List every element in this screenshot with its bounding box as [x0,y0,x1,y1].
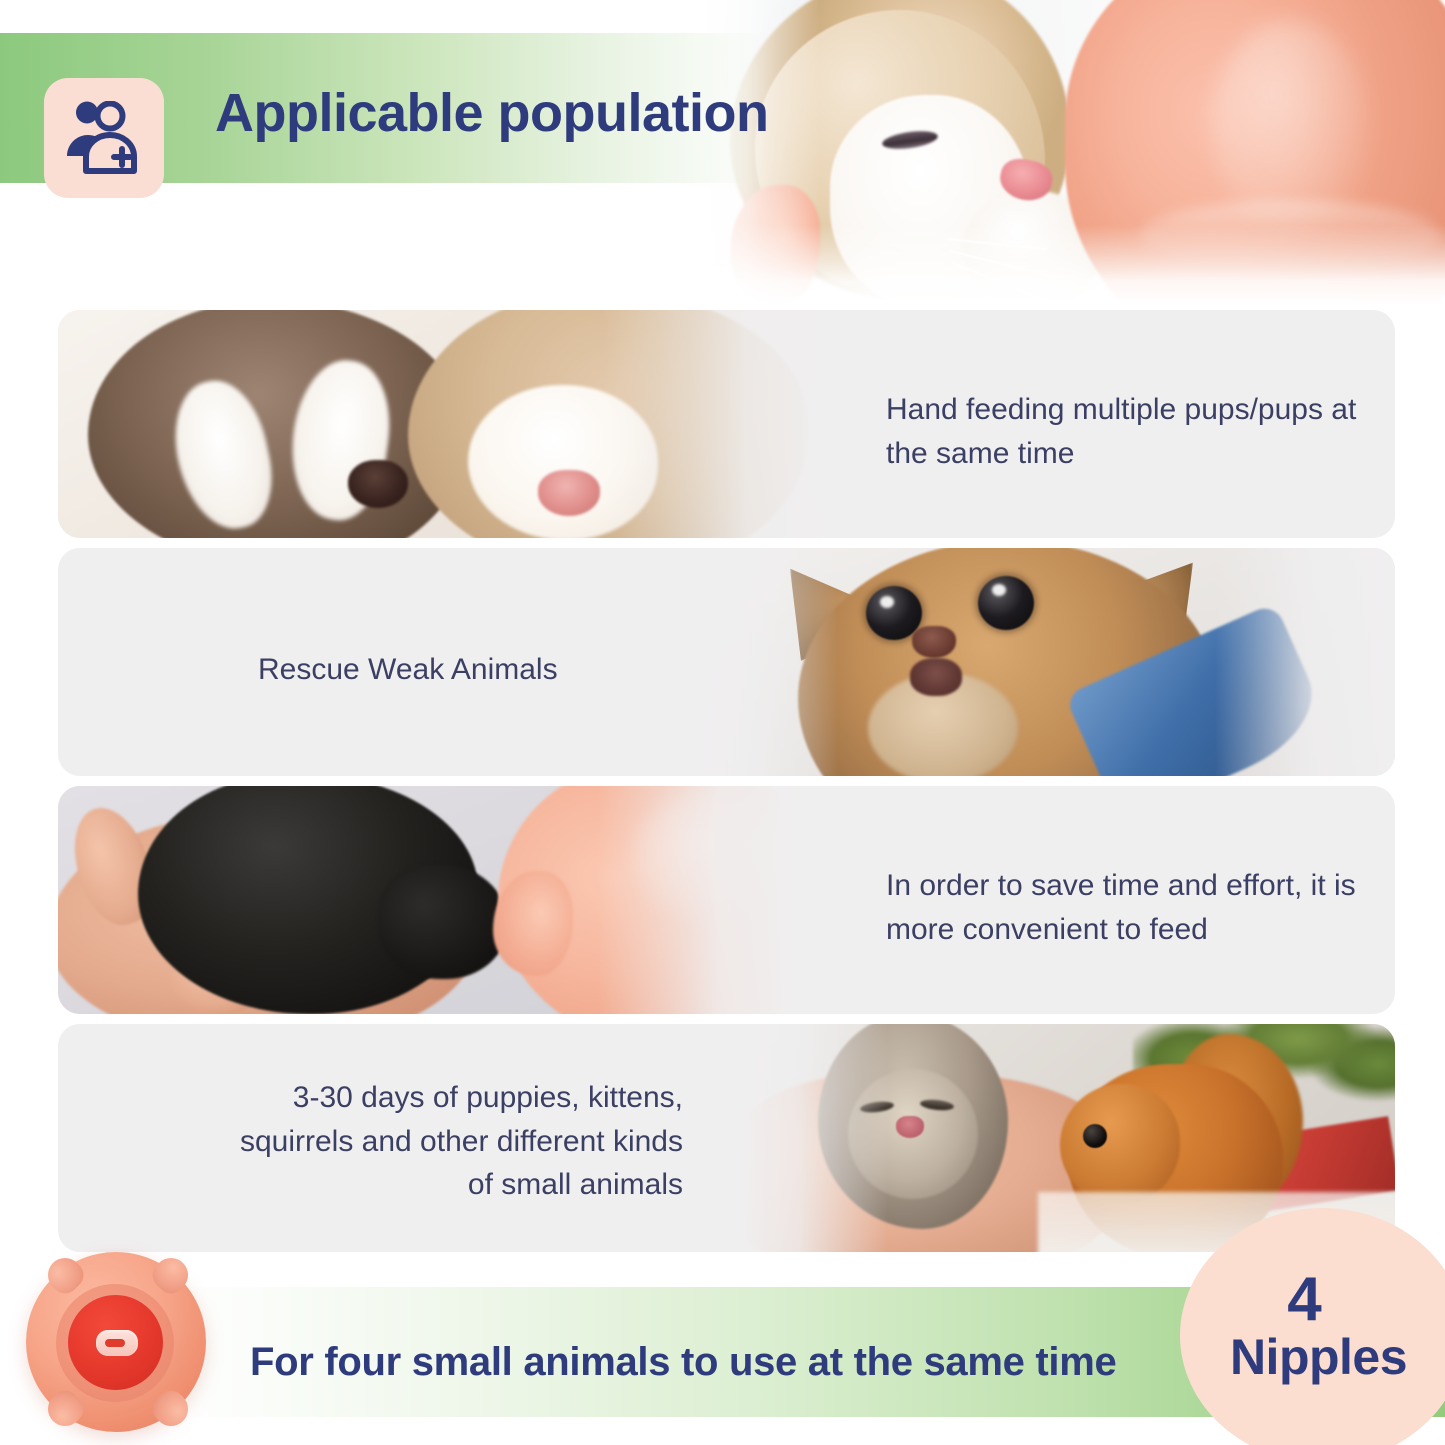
hero-bottom-fade [700,225,1445,305]
c3-puppy-snout [378,864,508,979]
c2-eye-highlight [880,596,894,608]
cap-valve [96,1330,138,1356]
c2-right-fade [1215,548,1395,776]
cap-nipple-2 [147,1251,195,1299]
c4-kitten-nose [896,1116,924,1138]
people-add-icon [65,101,143,175]
c2-kitten-nose [912,626,956,658]
card-2-text: Rescue Weak Animals [258,648,778,692]
card-1-text: Hand feeding multiple pups/pups at the s… [886,388,1386,475]
c1-puppy-tan-nose [538,470,600,516]
card-3-photo [58,786,798,1014]
card-age-range-animals: 3-30 days of puppies, kittens, squirrels… [58,1024,1395,1252]
cap-nipple-1 [41,1251,89,1299]
c1-right-fade [603,310,833,538]
card-save-time-effort: In order to save time and effort, it is … [58,786,1395,1014]
c2-kitten-eye-right [978,576,1034,630]
c4-squirrel-eye [1083,1124,1107,1148]
footer-caption: For four small animals to use at the sam… [250,1340,1116,1385]
hero-photo-kitten-bottle [700,0,1445,305]
card-1-photo [58,310,833,538]
nipples-count: 4 [1287,1271,1321,1330]
cap-nipple-4 [147,1385,195,1433]
hero-bottle-highlight [1210,20,1370,230]
header-icon-container [44,78,164,198]
infographic-page: Applicable population Hand feeding multi… [0,0,1445,1445]
card-2-photo [678,548,1395,776]
card-rescue-weak-animals: Rescue Weak Animals [58,548,1395,776]
c3-right-fade [598,786,798,1014]
card-hand-feeding: Hand feeding multiple pups/pups at the s… [58,310,1395,538]
c2-eye-highlight [992,584,1006,596]
card-3-text: In order to save time and effort, it is … [886,864,1386,951]
c4-squirrel-head [1060,1084,1180,1204]
page-title: Applicable population [215,82,769,144]
card-4-text: 3-30 days of puppies, kittens, squirrels… [238,1076,683,1207]
product-bottle-cap-photo [8,1240,223,1445]
c2-kitten-mouth [910,658,962,696]
c4-left-fade [738,1024,888,1252]
nipples-label: Nipples [1230,1332,1407,1382]
c1-puppy-grey-nose [348,460,408,508]
c3-bottle-nipple [493,871,573,976]
